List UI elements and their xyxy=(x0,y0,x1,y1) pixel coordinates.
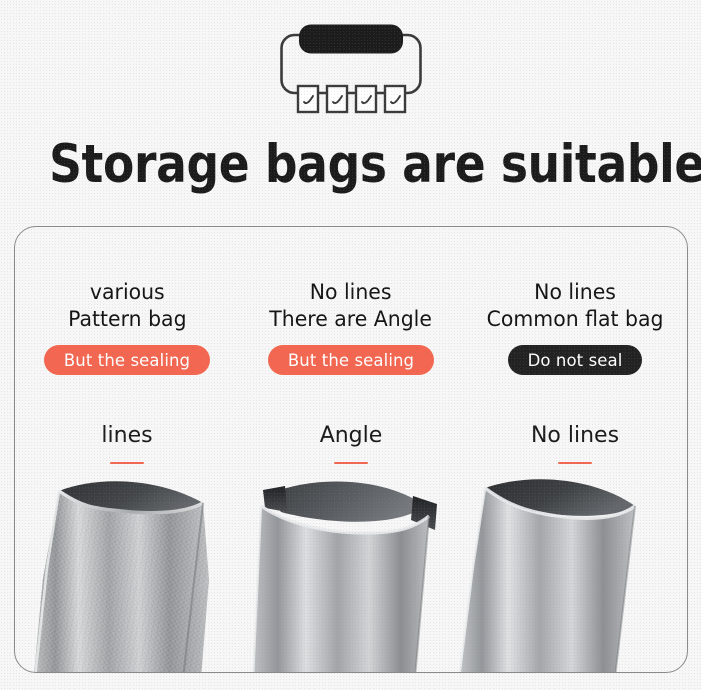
column-heading-line2: Common flat bag xyxy=(487,306,664,333)
column-angle-bag: No lines There are Angle But the sealing… xyxy=(239,227,463,672)
column-heading: No lines Common flat bag xyxy=(487,279,664,333)
feature-label: lines xyxy=(101,423,152,449)
column-flat-bag: No lines Common flat bag Do not seal No … xyxy=(463,227,687,672)
feature-label: No lines xyxy=(531,423,619,449)
status-badge: Do not seal xyxy=(508,345,643,375)
comparison-columns: various Pattern bag But the sealing line… xyxy=(15,227,687,672)
accent-underline xyxy=(334,462,368,464)
column-heading-line1: No lines xyxy=(270,279,433,306)
vacuum-sealer-icon xyxy=(276,22,426,114)
status-badge: But the sealing xyxy=(268,345,434,375)
column-heading-line1: various xyxy=(68,279,186,306)
accent-underline xyxy=(110,462,144,464)
status-badge: But the sealing xyxy=(44,345,210,375)
comparison-card: various Pattern bag But the sealing line… xyxy=(14,226,688,673)
column-heading: various Pattern bag xyxy=(68,279,186,333)
accent-underline xyxy=(558,462,592,464)
column-heading-line1: No lines xyxy=(487,279,664,306)
column-heading: No lines There are Angle xyxy=(270,279,433,333)
header-icon-container xyxy=(0,22,701,114)
column-heading-line2: Pattern bag xyxy=(68,306,186,333)
column-pattern-bag: various Pattern bag But the sealing line… xyxy=(15,227,239,672)
page-title: Storage bags are suitable xyxy=(49,132,652,198)
column-heading-line2: There are Angle xyxy=(270,306,433,333)
feature-label: Angle xyxy=(320,423,383,449)
